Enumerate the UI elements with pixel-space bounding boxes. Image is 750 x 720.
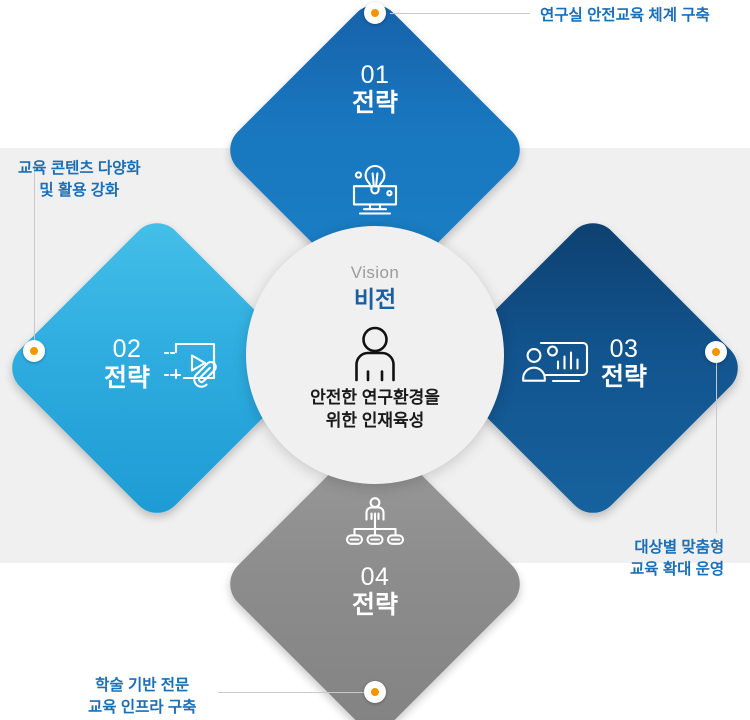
connector-line-03: [716, 355, 717, 533]
callout-03-line-1: 대상별 맞춤형: [630, 537, 724, 559]
callout-04-line-1: 학술 기반 전문: [88, 675, 196, 697]
callout-02-line-2: 및 활용 강화: [18, 180, 141, 202]
person-icon: [349, 325, 401, 383]
vision-description-line-2: 위한 인재육성: [310, 410, 440, 432]
connector-dot-01: [364, 2, 386, 24]
callout-label-02: 교육 콘텐츠 다양화 및 활용 강화: [18, 158, 141, 202]
callout-04-line-2: 교육 인프라 구축: [88, 697, 196, 719]
callout-03-line-2: 교육 확대 운영: [630, 559, 724, 581]
strategy-diagram: 01 전략 02 전략: [0, 0, 750, 720]
callout-01-line-1: 연구실 안전교육 체계 구축: [540, 5, 710, 27]
connector-line-04: [218, 692, 364, 693]
vision-en-label: Vision: [351, 264, 399, 283]
connector-line-01: [390, 13, 530, 14]
connector-dot-02: [23, 340, 45, 362]
callout-label-04: 학술 기반 전문 교육 인프라 구축: [88, 675, 196, 719]
connector-dot-03: [705, 341, 727, 363]
connector-dot-04: [364, 681, 386, 703]
callout-label-03: 대상별 맞춤형 교육 확대 운영: [630, 537, 724, 581]
callout-02-line-1: 교육 콘텐츠 다양화: [18, 158, 141, 180]
vision-ko-label: 비전: [354, 286, 396, 314]
vision-circle[interactable]: Vision 비전 안전한 연구환경을 위한 인재육성: [246, 226, 504, 484]
callout-label-01: 연구실 안전교육 체계 구축: [540, 5, 710, 27]
vision-description: 안전한 연구환경을 위한 인재육성: [310, 387, 440, 432]
vision-description-line-1: 안전한 연구환경을: [310, 387, 440, 409]
